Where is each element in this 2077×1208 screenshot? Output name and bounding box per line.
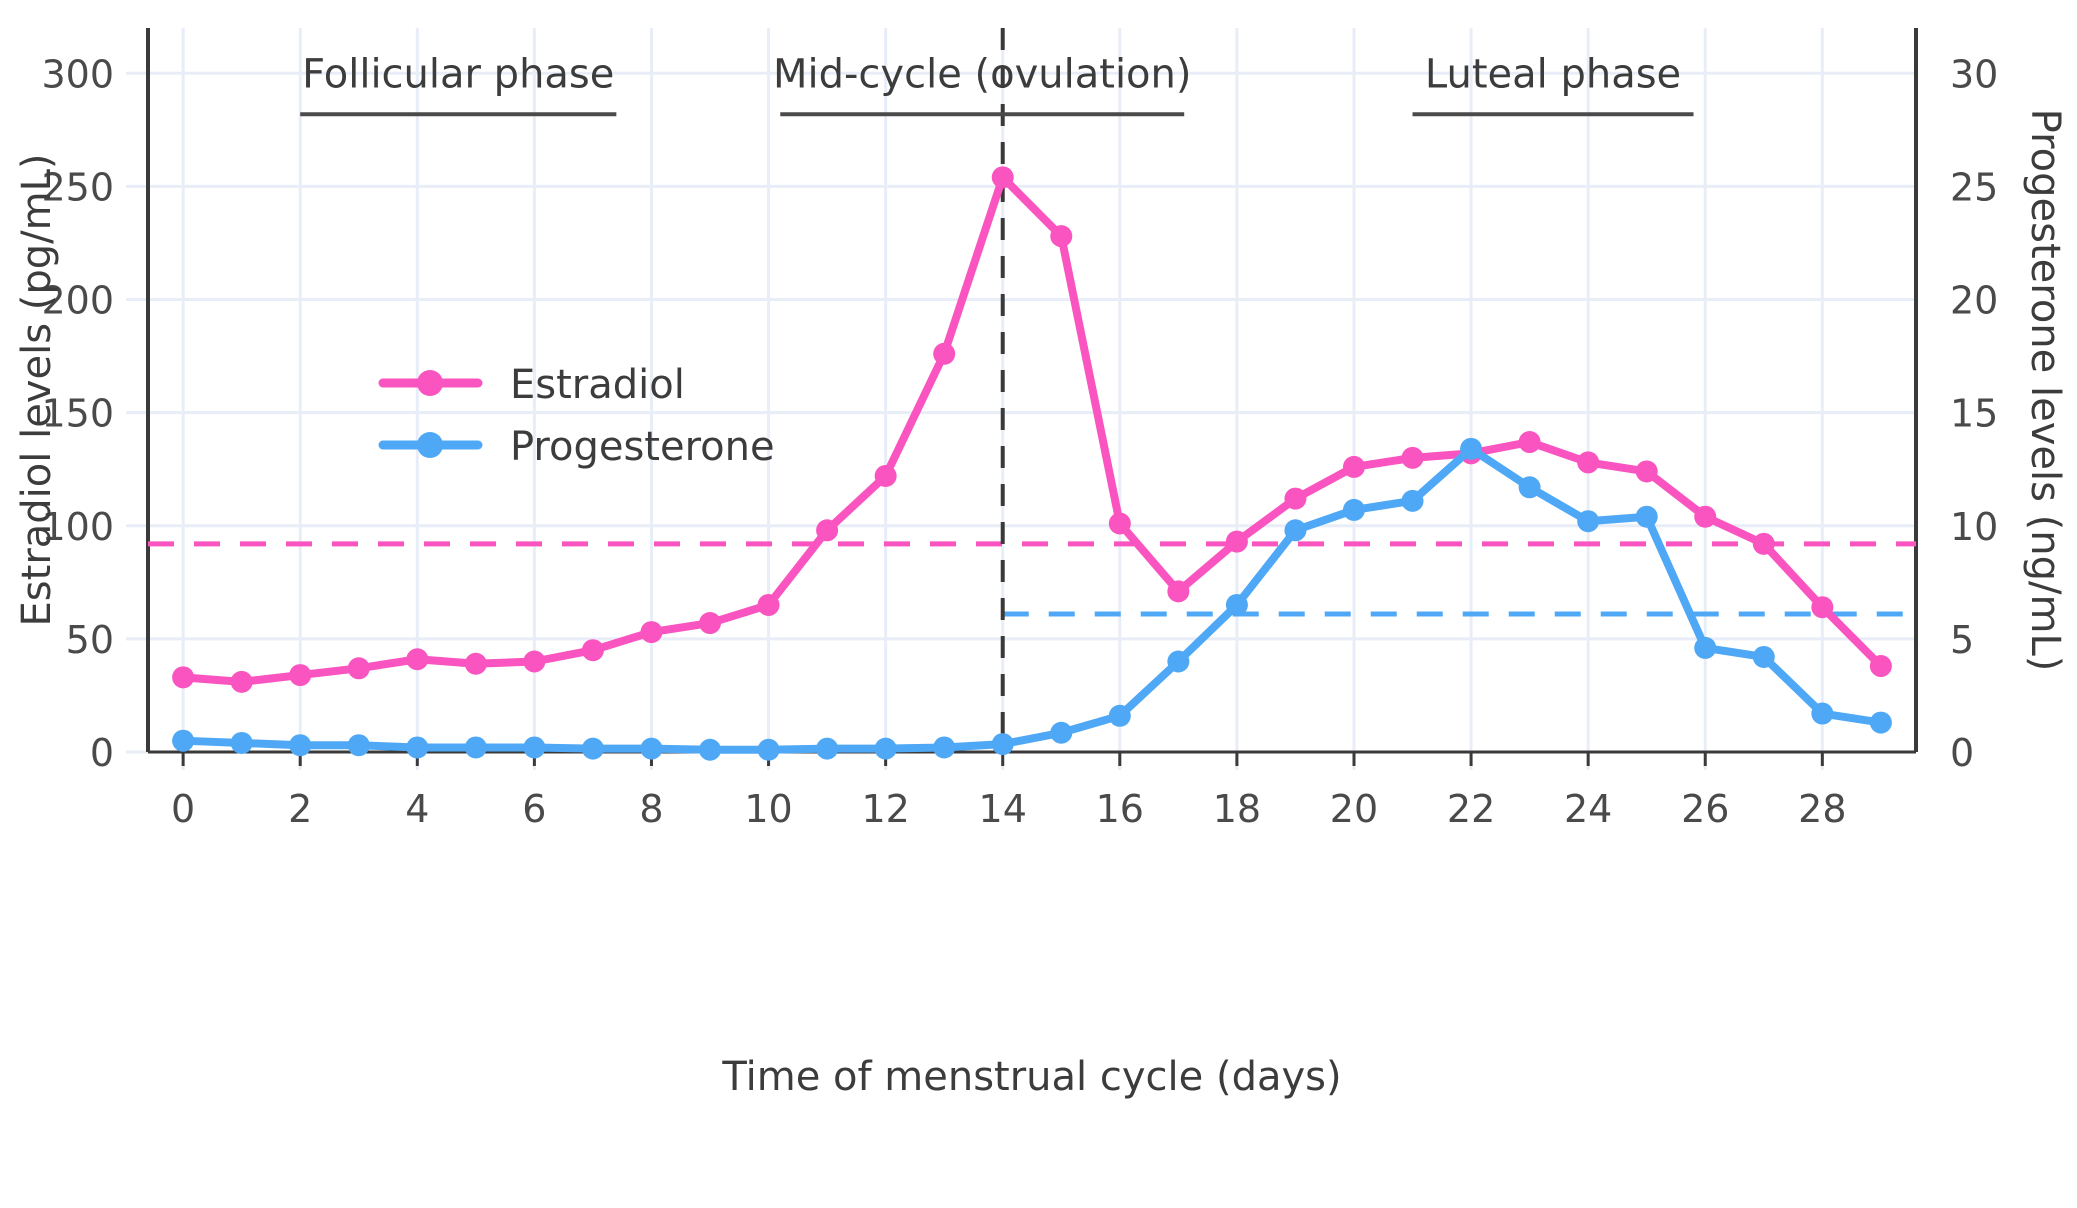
data-point-estradiol [231,671,253,693]
data-point-progesterone [465,736,487,758]
y-axis-left-title: Estradiol levels (pg/mL) [14,154,60,627]
data-point-progesterone [640,738,662,760]
data-point-progesterone [1577,510,1599,532]
legend-label: Estradiol [510,362,685,408]
line-chart: Follicular phaseMid-cycle (ovulation)Lut… [0,0,2077,1208]
data-point-estradiol [1226,531,1248,553]
data-point-progesterone [289,734,311,756]
x-axis-tick-label: 24 [1564,787,1612,831]
data-point-estradiol [1694,506,1716,528]
x-axis-tick-label: 14 [979,787,1027,831]
data-point-progesterone [875,738,897,760]
y-axis-right-tick-label: 5 [1950,618,1974,662]
data-point-progesterone [758,739,780,761]
x-axis-tick-label: 10 [744,787,792,831]
data-point-progesterone [1519,476,1541,498]
x-axis-tick-label: 8 [639,787,663,831]
y-axis-left-tick-label: 50 [66,618,114,662]
data-point-estradiol [172,666,194,688]
chart-container: Follicular phaseMid-cycle (ovulation)Lut… [0,0,2077,1208]
data-point-progesterone [992,733,1014,755]
x-axis-tick-label: 16 [1096,787,1144,831]
data-point-progesterone [582,738,604,760]
data-point-estradiol [1870,655,1892,677]
legend-swatch-marker [417,370,443,396]
legend-swatch-marker [417,432,443,458]
x-axis-tick-label: 28 [1798,787,1846,831]
data-point-estradiol [699,612,721,634]
x-axis-tick-label: 20 [1330,787,1378,831]
data-point-progesterone [933,736,955,758]
y-axis-right-tick-label: 15 [1950,392,1998,436]
data-point-progesterone [406,736,428,758]
x-axis-tick-label: 22 [1447,787,1495,831]
x-axis-tick-label: 6 [522,787,546,831]
data-point-estradiol [1050,225,1072,247]
phase-label-luteal-phase: Luteal phase [1425,51,1681,97]
data-point-estradiol [465,653,487,675]
data-point-estradiol [523,651,545,673]
data-point-progesterone [1050,722,1072,744]
data-point-estradiol [875,465,897,487]
data-point-progesterone [1343,499,1365,521]
data-point-progesterone [1402,490,1424,512]
data-point-estradiol [1167,580,1189,602]
data-point-progesterone [1870,712,1892,734]
data-point-estradiol [1753,533,1775,555]
data-point-progesterone [816,738,838,760]
data-point-progesterone [699,739,721,761]
data-point-estradiol [816,519,838,541]
data-point-progesterone [523,736,545,758]
data-point-progesterone [1460,438,1482,460]
data-point-estradiol [758,594,780,616]
data-point-progesterone [231,732,253,754]
legend-label: Progesterone [510,424,775,470]
data-point-estradiol [406,648,428,670]
data-point-progesterone [1636,506,1658,528]
data-point-estradiol [1519,431,1541,453]
y-axis-left-tick-label: 300 [41,52,114,96]
y-axis-right-tick-label: 0 [1950,731,1974,775]
x-axis-tick-label: 2 [288,787,312,831]
x-axis-tick-label: 0 [171,787,195,831]
data-point-progesterone [1167,651,1189,673]
data-point-estradiol [1284,488,1306,510]
x-axis-tick-label: 4 [405,787,429,831]
data-point-progesterone [1811,703,1833,725]
data-point-estradiol [1811,596,1833,618]
y-axis-right-tick-label: 30 [1950,52,1998,96]
data-point-estradiol [992,166,1014,188]
data-point-estradiol [1636,460,1658,482]
data-point-progesterone [348,734,370,756]
data-point-progesterone [172,730,194,752]
data-point-estradiol [1343,456,1365,478]
x-axis-tick-label: 26 [1681,787,1729,831]
data-point-estradiol [933,343,955,365]
data-point-progesterone [1226,594,1248,616]
data-point-estradiol [1109,512,1131,534]
data-point-estradiol [1577,451,1599,473]
data-point-estradiol [640,621,662,643]
data-point-estradiol [348,657,370,679]
x-axis-title: Time of menstrual cycle (days) [721,1054,1341,1100]
phase-label-follicular-phase: Follicular phase [302,51,614,97]
x-axis-tick-label: 18 [1213,787,1261,831]
data-point-progesterone [1753,646,1775,668]
y-axis-right-title: Progesterone levels (ng/mL) [2022,109,2068,672]
data-point-progesterone [1694,637,1716,659]
y-axis-right-tick-label: 20 [1950,279,1998,323]
y-axis-right-tick-label: 10 [1950,505,1998,549]
y-axis-right-tick-label: 25 [1950,165,1998,209]
data-point-progesterone [1284,519,1306,541]
y-axis-left-tick-label: 0 [90,731,114,775]
data-point-estradiol [582,639,604,661]
data-point-estradiol [1402,447,1424,469]
x-axis-tick-label: 12 [861,787,909,831]
data-point-progesterone [1109,705,1131,727]
phase-label-mid-cycle-phase: Mid-cycle (ovulation) [773,51,1192,97]
chart-background [0,0,2077,1208]
data-point-estradiol [289,664,311,686]
